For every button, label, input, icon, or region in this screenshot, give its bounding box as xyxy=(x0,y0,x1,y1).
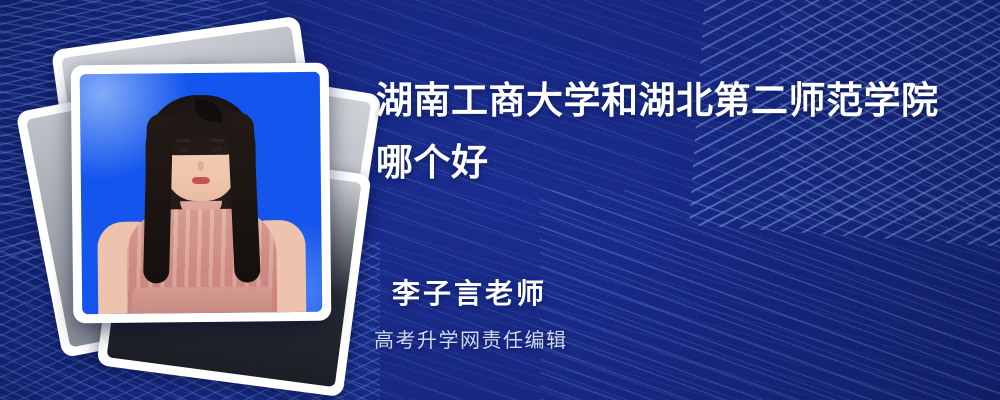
portrait-eye-right xyxy=(212,147,223,152)
page-title-line-1: 湖南工商大学和湖北第二师范学院 xyxy=(376,70,956,132)
byline: 李子言老师 高考升学网责任编辑 xyxy=(374,272,794,353)
author-role: 高考升学网责任编辑 xyxy=(374,324,794,353)
portrait-hair-strand-left xyxy=(143,113,173,284)
author-photo xyxy=(80,72,323,315)
page-title: 湖南工商大学和湖北第二师范学院 哪个好 xyxy=(376,70,956,194)
portrait-eye-left xyxy=(179,147,190,152)
portrait-dress-waist xyxy=(132,286,272,313)
author-photo-card xyxy=(71,63,332,324)
author-name: 李子言老师 xyxy=(374,272,794,312)
photo-card-stack xyxy=(44,36,364,366)
portrait-nose xyxy=(198,161,204,171)
page-title-line-2: 哪个好 xyxy=(376,132,956,194)
article-cover-banner: 湖南工商大学和湖北第二师范学院 哪个好 李子言老师 高考升学网责任编辑 xyxy=(0,0,1000,400)
author-portrait-illustration xyxy=(80,72,323,315)
portrait-mouth xyxy=(192,177,210,184)
